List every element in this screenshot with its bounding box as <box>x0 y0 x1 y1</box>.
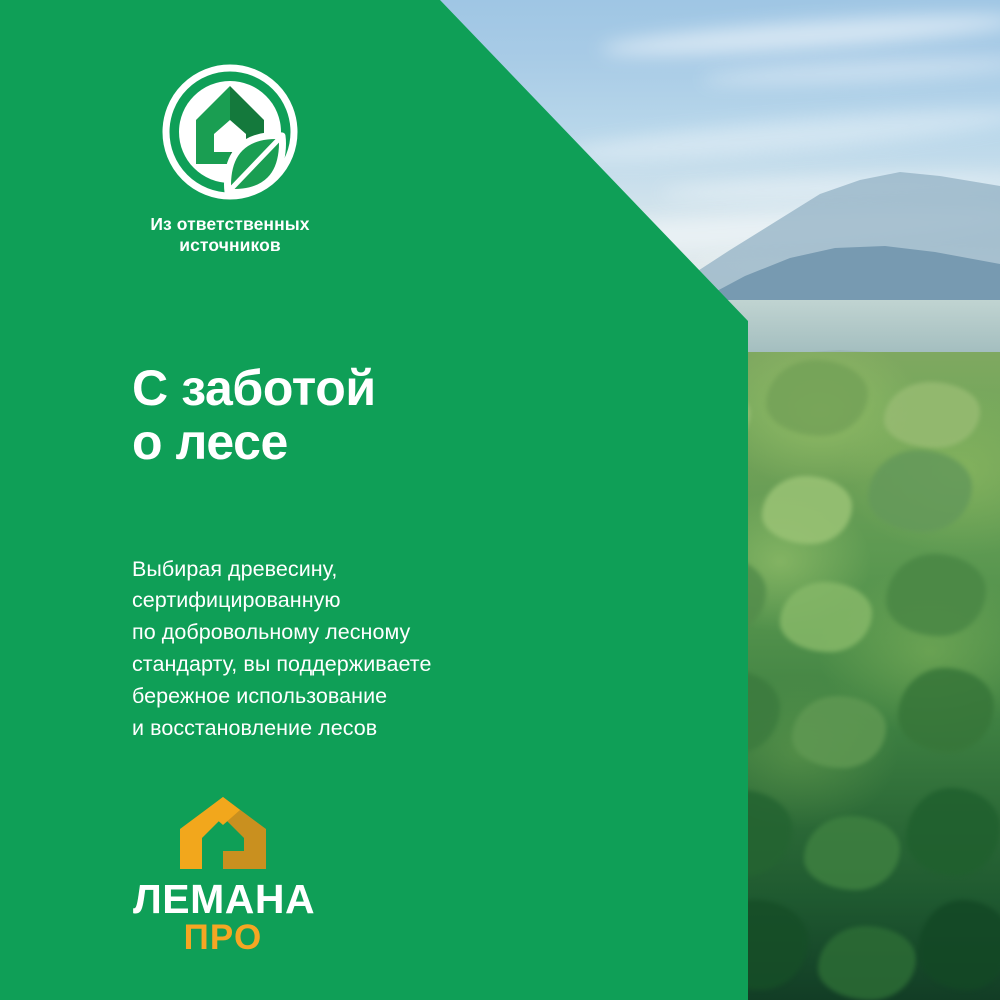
responsible-sources-caption: Из ответственных источников <box>130 214 330 255</box>
pro-wordmark: ПРО <box>133 920 313 956</box>
lemana-pro-logo: ЛЕМАНА ПРО <box>133 795 313 956</box>
responsible-sources-circle-logo <box>160 62 300 202</box>
lemana-wordmark: ЛЕМАНА <box>133 879 313 919</box>
lemana-house-icon <box>170 795 276 871</box>
poster: Из ответственных источников С заботой о … <box>0 0 1000 1000</box>
page-title: С заботой о лесе <box>132 361 376 469</box>
poster-content: Из ответственных источников С заботой о … <box>0 0 1000 1000</box>
responsible-sources-badge: Из ответственных источников <box>130 62 330 255</box>
body-paragraph: Выбирая древесину, сертифицированную по … <box>132 554 552 745</box>
